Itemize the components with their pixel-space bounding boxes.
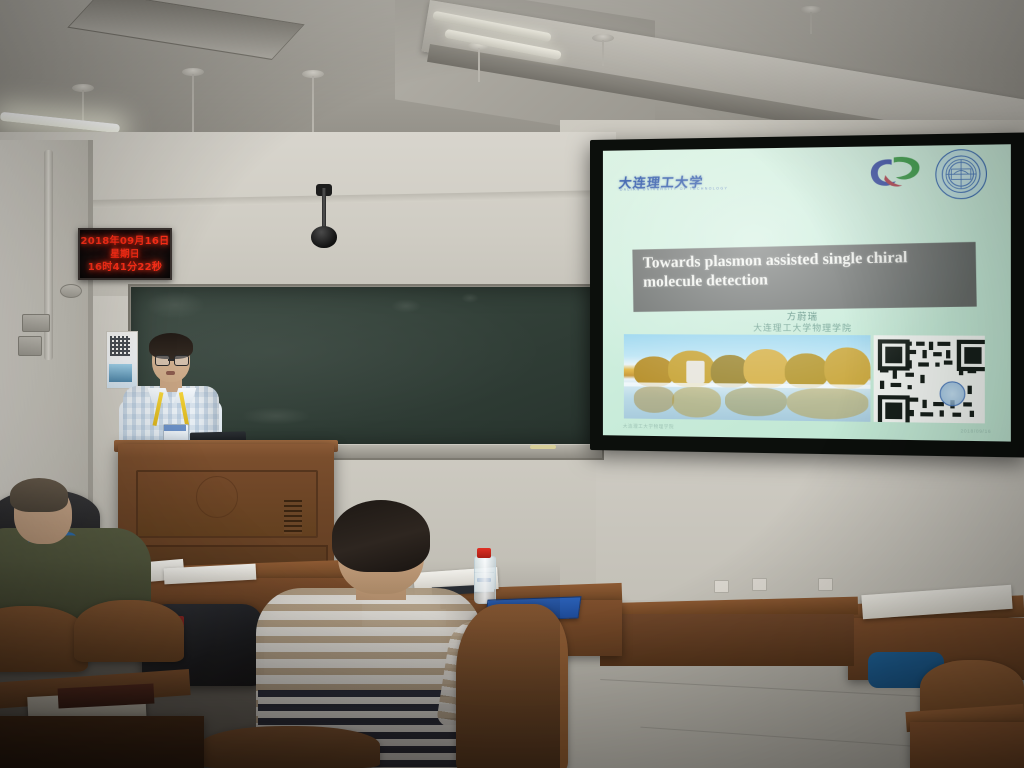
lamp-rod — [810, 12, 812, 34]
slide-university-logo-en: DALIAN UNIVERSITY OF TECHNOLOGY — [620, 186, 728, 191]
speaker-badge-strip — [164, 425, 186, 431]
water-bottle[interactable] — [474, 556, 496, 604]
led-weekday: 星期日 — [110, 248, 139, 261]
chair-left-2[interactable] — [74, 600, 184, 662]
glasses-bridge — [168, 359, 174, 361]
poster-image — [109, 364, 132, 382]
wall-camera-small — [18, 336, 42, 356]
glasses-icon — [155, 355, 170, 366]
chair-center-front[interactable] — [200, 726, 380, 768]
podium-emblem — [196, 476, 238, 518]
chair-center[interactable] — [456, 604, 568, 768]
desk-right-front — [910, 722, 1024, 768]
projection-screen: 大连理工大学 DALIAN UNIVERSITY OF TECHNOLOGY T… — [603, 144, 1011, 441]
audience-left-hair — [10, 478, 68, 512]
wall-outlet[interactable] — [752, 578, 767, 591]
wall-fixture — [60, 284, 82, 298]
chalk-piece[interactable] — [530, 445, 556, 449]
security-camera-icon — [311, 226, 337, 248]
glasses-icon — [174, 355, 189, 366]
wall-switch[interactable] — [714, 580, 729, 593]
led-date-time-display: 2018年09月16日 星期日 16时41分22秒 — [78, 228, 172, 280]
pillar-edge — [88, 140, 93, 560]
slide-title: Towards plasmon assisted single chiral m… — [643, 246, 975, 292]
led-date: 2018年09月16日 — [81, 235, 170, 248]
cps-logo — [864, 154, 926, 190]
slide-affiliation: 大连理工大学物理学院 — [603, 321, 1011, 335]
wall-switch[interactable] — [818, 578, 833, 591]
desk-foreground — [0, 716, 204, 768]
university-seal-logo — [935, 149, 987, 200]
lecture-hall-photo: 2018年09月16日 星期日 16时41分22秒 大连理工大学 DALIAN … — [0, 0, 1024, 768]
poster-qr-icon — [110, 336, 130, 356]
lamp-rod — [478, 48, 480, 82]
projection-screen-frame: 大连理工大学 DALIAN UNIVERSITY OF TECHNOLOGY T… — [590, 132, 1024, 457]
speaker-mouth — [166, 371, 175, 375]
qr-center-logo — [940, 381, 966, 406]
audience-center-hair — [332, 500, 430, 572]
led-time: 16时41分22秒 — [88, 261, 162, 274]
wall-speaker — [22, 314, 50, 332]
bench-right-front — [600, 614, 854, 666]
slide-campus-photo — [624, 334, 871, 422]
podium-vent — [284, 500, 302, 534]
slide-footer-right: 2018/09/16 — [961, 428, 992, 434]
slide-footer-left: 大连理工大学物理学院 — [623, 423, 674, 430]
slide-qr-code — [874, 335, 985, 423]
bottle-cap — [477, 548, 491, 558]
lamp-rod — [602, 40, 604, 66]
